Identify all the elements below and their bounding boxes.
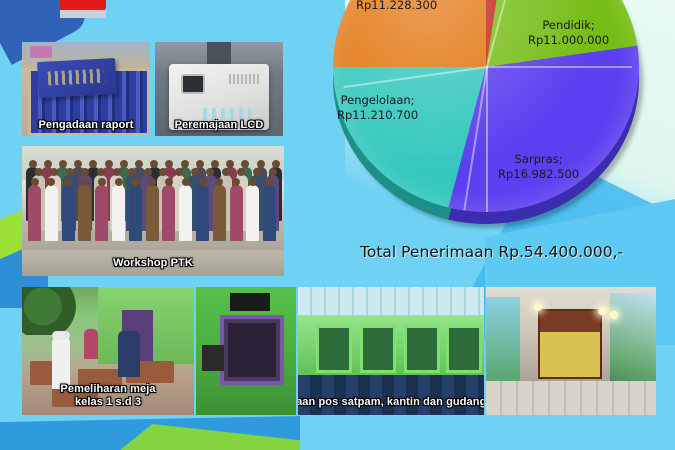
pie-label-pendidik-name: Pendidik; bbox=[528, 18, 609, 33]
photo-workshop-person-head bbox=[206, 168, 214, 176]
photo-workshop-person-head bbox=[226, 160, 234, 168]
photo-lcd-lens bbox=[181, 74, 205, 94]
photo-workshop-person bbox=[28, 185, 41, 241]
photo-meja-tree bbox=[22, 287, 80, 335]
pie-label-sarpras-name: Sarpras; bbox=[498, 152, 579, 167]
photo-workshop-person bbox=[95, 185, 108, 241]
photo-workshop-person-head bbox=[191, 168, 199, 176]
photo-workshop-person bbox=[246, 185, 259, 241]
photo-workshop-person-head bbox=[196, 160, 204, 168]
photo-gudang-cabinet bbox=[220, 315, 284, 385]
photo-workshop-person-head bbox=[215, 178, 223, 186]
photo-workshop-person-head bbox=[144, 168, 152, 176]
pie-label-pengelolaan: Pengelolaan; Rp11.210.700 bbox=[337, 93, 418, 123]
photo-mural-floor bbox=[486, 381, 656, 415]
pie-label-pengelolaan-amount: Rp11.210.700 bbox=[337, 108, 418, 123]
photo-workshop-person-head bbox=[165, 178, 173, 186]
photo-workshop-person-head bbox=[241, 160, 249, 168]
photo-workshop-person bbox=[45, 185, 58, 241]
photo-workshop-person-head bbox=[113, 168, 121, 176]
photo-caption-workshop: Workshop PTK bbox=[22, 257, 284, 270]
presentation-slide: Pengadaan raport Peremajaan LCD Workshop… bbox=[0, 0, 675, 450]
photo-workshop-person-head bbox=[199, 178, 207, 186]
photo-workshop-person-head bbox=[89, 160, 97, 168]
photo-gudang-sign bbox=[230, 293, 270, 311]
photo-workshop-person-head bbox=[159, 168, 167, 176]
photo-workshop-person-head bbox=[211, 160, 219, 168]
photo-workshop-person-head bbox=[181, 160, 189, 168]
photo-workshop-people bbox=[24, 164, 282, 254]
photo-workshop-person-head bbox=[131, 178, 139, 186]
photo-workshop-person-head bbox=[115, 178, 123, 186]
pie-label-pendidik-amount: Rp11.000.000 bbox=[528, 33, 609, 48]
photo-caption-meja-line1: Pemeliharan meja bbox=[22, 383, 194, 396]
photo-mural-lamp bbox=[610, 311, 618, 319]
photo-workshop-person bbox=[146, 185, 159, 241]
photo-caption-meja-line2: kelas 1 s.d 3 bbox=[22, 396, 194, 409]
photo-workshop-person-head bbox=[249, 178, 257, 186]
photo-caption-fasilitas: Penataan pos satpam, kantin dan gudang bbox=[298, 396, 484, 409]
photo-workshop-person-head bbox=[74, 160, 82, 168]
photo-workshop-person-head bbox=[81, 178, 89, 186]
photo-pos-satpam bbox=[486, 287, 656, 415]
photo-workshop-person-head bbox=[120, 160, 128, 168]
photo-hall-window bbox=[446, 325, 482, 373]
photo-workshop-person-head bbox=[272, 160, 280, 168]
photo-caption-raport: Pengadaan raport bbox=[22, 119, 150, 132]
photo-workshop-person-head bbox=[47, 178, 55, 186]
pie-label-bos-amount: Rp11.228.300 bbox=[356, 0, 437, 13]
photo-workshop-person-head bbox=[98, 178, 106, 186]
photo-workshop-person-head bbox=[81, 168, 89, 176]
total-penerimaan-text: Total Penerimaan Rp.54.400.000,- bbox=[360, 243, 660, 261]
photo-workshop-person bbox=[213, 185, 226, 241]
photo-workshop-person-head bbox=[66, 168, 74, 176]
photo-workshop-person bbox=[62, 185, 75, 241]
pie-label-pendidik: Pendidik; Rp11.000.000 bbox=[528, 18, 609, 48]
photo-pemeliharan-meja: Pemeliharan meja kelas 1 s.d 3 bbox=[22, 287, 194, 415]
pie-label-bos: Rp11.228.300 bbox=[356, 0, 437, 13]
photo-workshop-person-head bbox=[150, 160, 158, 168]
photo-mural-lamp bbox=[534, 303, 542, 311]
photo-mural-lamp bbox=[598, 307, 606, 315]
photo-workshop-person-head bbox=[148, 178, 156, 186]
photo-workshop-person-head bbox=[64, 178, 72, 186]
pie-label-sarpras-amount: Rp16.982.500 bbox=[498, 167, 579, 182]
photo-meja-person bbox=[52, 337, 70, 389]
photo-workshop-person-head bbox=[266, 178, 274, 186]
photo-workshop-person-head bbox=[135, 160, 143, 168]
photo-hall-window bbox=[404, 325, 440, 373]
photo-workshop-person-head bbox=[50, 168, 58, 176]
photo-workshop-person bbox=[196, 185, 209, 241]
photo-hall-window bbox=[316, 325, 352, 373]
photo-caption-lcd: Peremajaan LCD bbox=[155, 119, 283, 132]
photo-meja-person bbox=[118, 331, 140, 377]
pie-label-pengelolaan-name: Pengelolaan; bbox=[337, 93, 418, 108]
photo-workshop-person-head bbox=[237, 168, 245, 176]
photo-workshop-person-head bbox=[29, 160, 37, 168]
photo-workshop-person-head bbox=[105, 160, 113, 168]
photo-workshop-person-head bbox=[31, 178, 39, 186]
photo-workshop-person bbox=[162, 185, 175, 241]
pie-slice-divider bbox=[487, 66, 632, 68]
photo-gudang bbox=[196, 287, 296, 415]
photo-workshop-person bbox=[263, 185, 276, 241]
corner-red-tag-base bbox=[60, 10, 106, 18]
photo-workshop-person-head bbox=[165, 160, 173, 168]
photo-workshop-person-head bbox=[269, 168, 277, 176]
pie-label-sarpras: Sarpras; Rp16.982.500 bbox=[498, 152, 579, 182]
photo-workshop-person bbox=[230, 185, 243, 241]
photo-workshop-person-head bbox=[222, 168, 230, 176]
photo-workshop-person-head bbox=[128, 168, 136, 176]
photo-meja-person bbox=[84, 329, 98, 359]
photo-lcd-vent bbox=[229, 74, 259, 84]
photo-workshop-person bbox=[179, 185, 192, 241]
photo-workshop-person-head bbox=[97, 168, 105, 176]
photo-meja-person-hat bbox=[52, 331, 70, 340]
photo-workshop-person-head bbox=[35, 168, 43, 176]
photo-hall-ceiling bbox=[298, 287, 484, 317]
photo-hall-window bbox=[360, 325, 396, 373]
photo-workshop-person-head bbox=[182, 178, 190, 186]
photo-workshop-person-head bbox=[44, 160, 52, 168]
photo-mural-door bbox=[538, 309, 602, 379]
photo-workshop-person bbox=[112, 185, 125, 241]
photo-hall-floor bbox=[298, 375, 484, 415]
photo-workshop-person-head bbox=[59, 160, 67, 168]
photo-kantin-koridor: Penataan pos satpam, kantin dan gudang bbox=[298, 287, 484, 415]
photo-lcd-mount bbox=[207, 42, 231, 66]
background-bottom-right bbox=[375, 420, 675, 450]
pie-slice-divider bbox=[486, 67, 488, 212]
photo-gudang-poster bbox=[202, 345, 224, 371]
photo-caption-meja: Pemeliharan meja kelas 1 s.d 3 bbox=[22, 383, 194, 409]
photo-workshop-person-head bbox=[232, 178, 240, 186]
photo-workshop-person-head bbox=[175, 168, 183, 176]
photo-workshop-person bbox=[78, 185, 91, 241]
photo-workshop-ptk: Workshop PTK bbox=[22, 146, 284, 276]
photo-peremajaan-lcd: Peremajaan LCD bbox=[155, 42, 283, 136]
photo-pengadaan-raport: Pengadaan raport bbox=[22, 42, 150, 136]
photo-workshop-person-head bbox=[257, 160, 265, 168]
photo-workshop-person-head bbox=[253, 168, 261, 176]
photo-raport-book bbox=[37, 58, 117, 98]
photo-workshop-person bbox=[129, 185, 142, 241]
